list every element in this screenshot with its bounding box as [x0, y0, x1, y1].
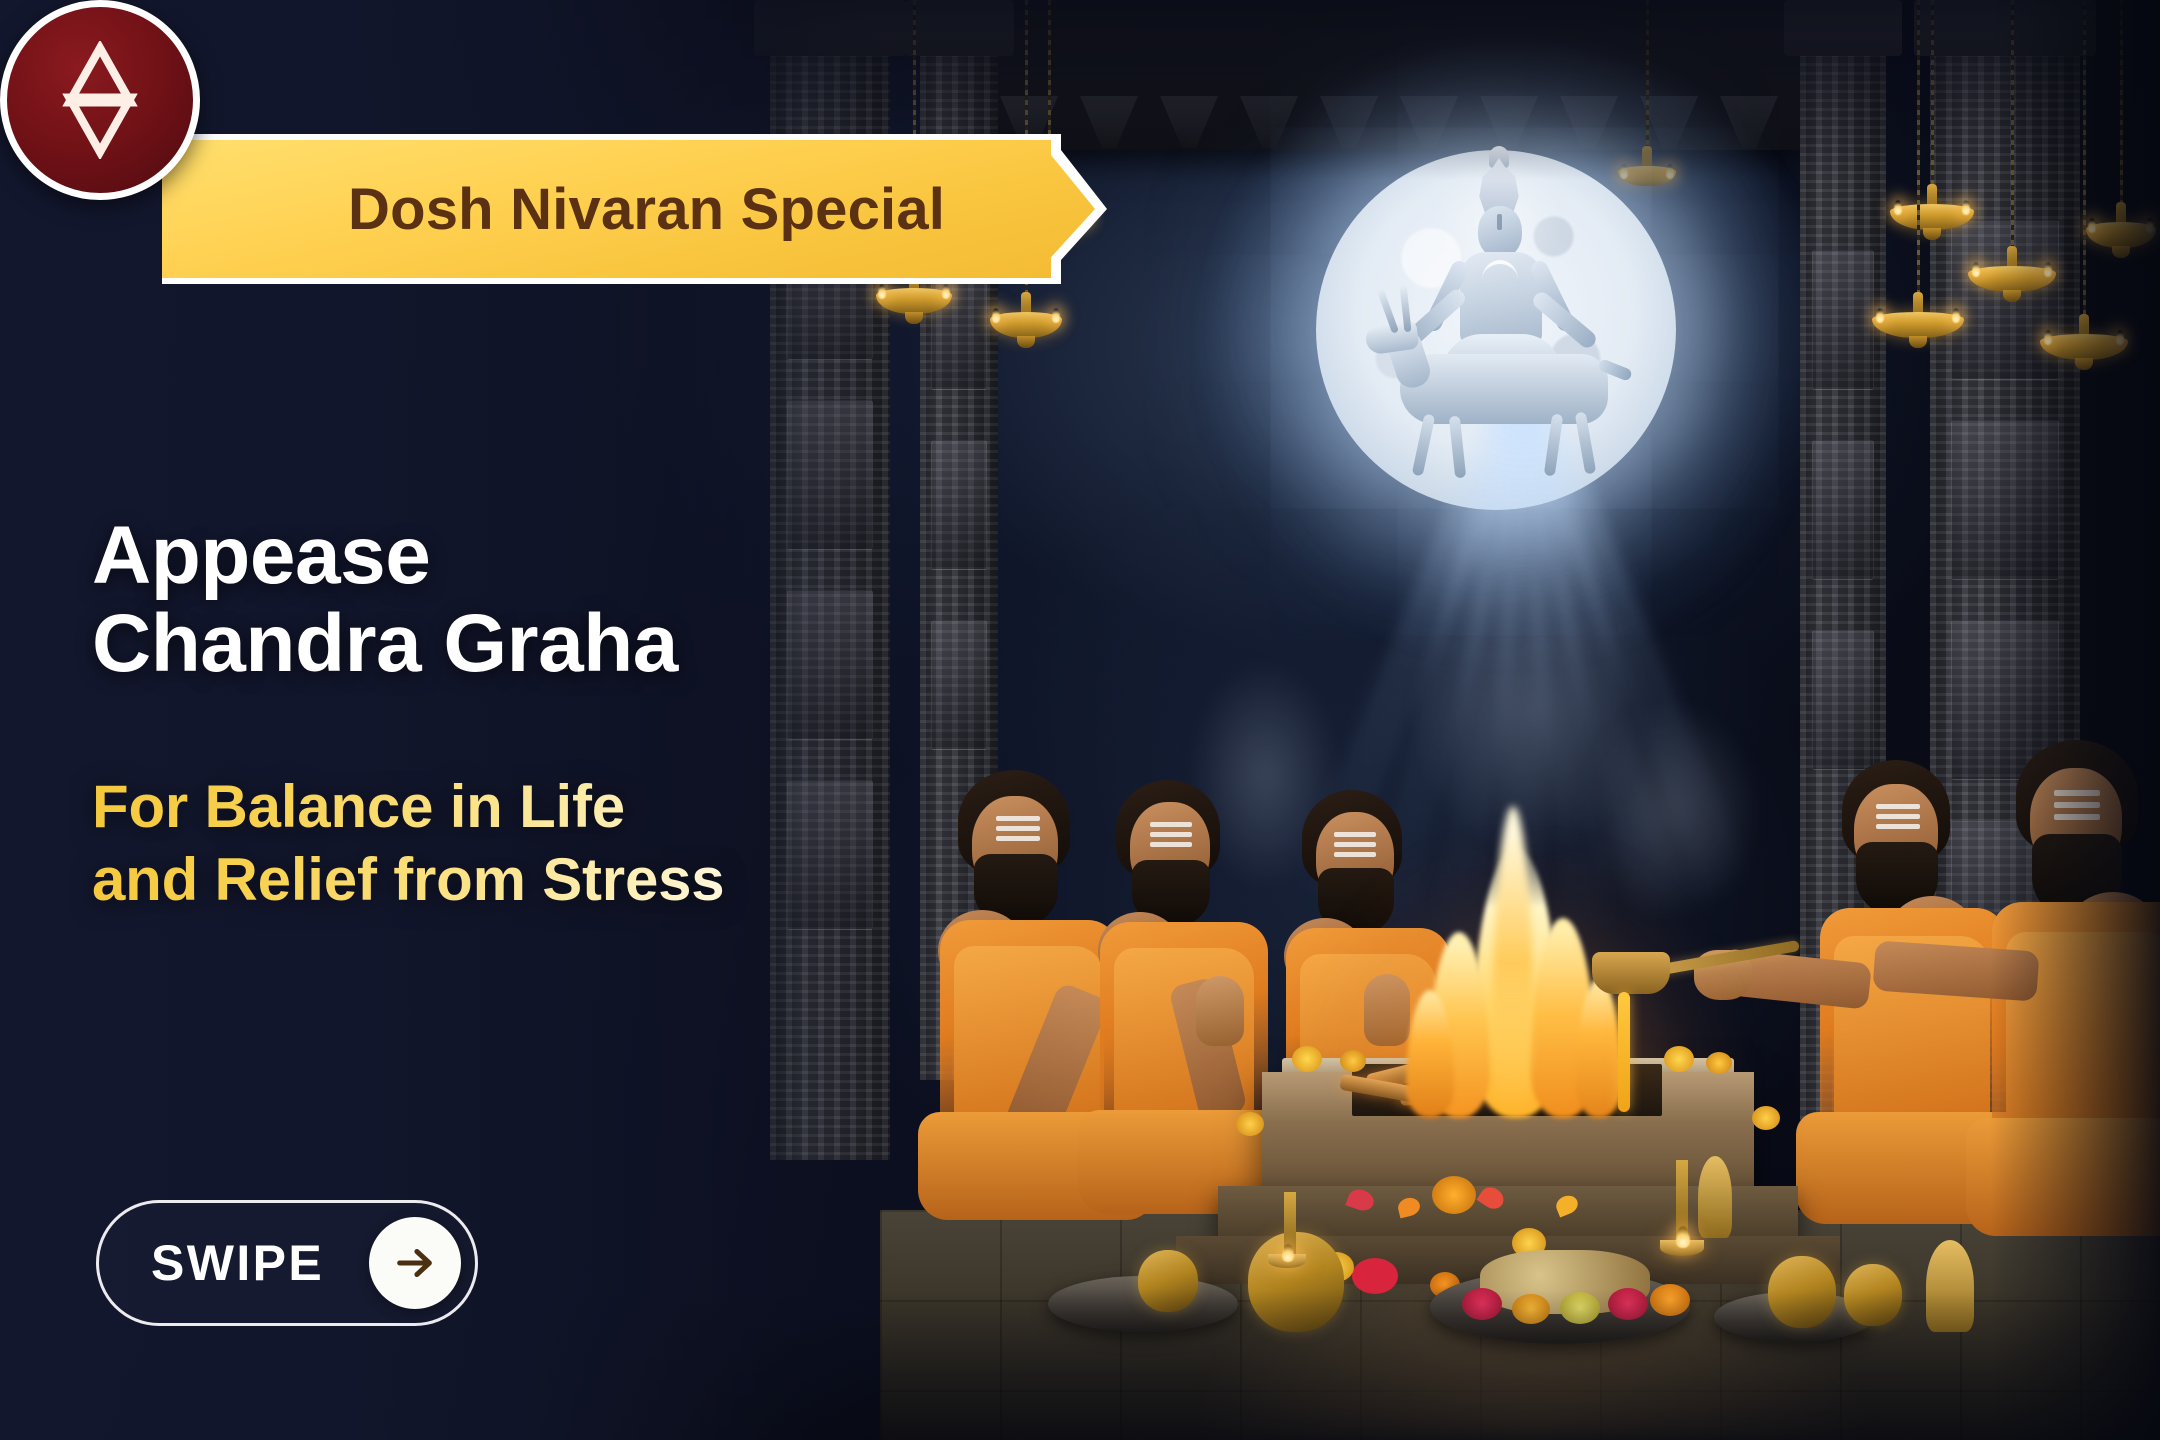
- marigold-flower: [1664, 1046, 1694, 1072]
- headline-line-2: Chandra Graha: [92, 600, 678, 688]
- page-subtitle: For Balance in Life and Relief from Stre…: [92, 770, 724, 916]
- arrow-right-icon: [392, 1240, 438, 1286]
- swipe-arrow-circle[interactable]: [369, 1217, 461, 1309]
- marigold-flower: [1340, 1050, 1366, 1072]
- chandra-graha-deity: [1356, 148, 1646, 478]
- badge-ribbon: Dosh Nivaran Special: [162, 140, 1095, 278]
- sacred-fire: [1410, 838, 1620, 1118]
- marigold-flower: [1706, 1052, 1732, 1074]
- marigold-flower: [1752, 1106, 1780, 1130]
- page-title: Appease Chandra Graha: [92, 512, 678, 687]
- ghee-ladle: [1592, 952, 1670, 994]
- right-vignette: [1990, 0, 2160, 1440]
- star-of-david-icon: [41, 41, 159, 159]
- ghee-stream: [1618, 992, 1630, 1112]
- dosh-nivaran-medallion: [0, 0, 200, 200]
- headline-line-1: Appease: [92, 510, 430, 601]
- ritual-bell: [1698, 1156, 1732, 1238]
- marigold-flower: [1432, 1176, 1476, 1214]
- subhead-line-1: For Balance in Life: [92, 773, 625, 840]
- subhead-line-2: and Relief from Stress: [92, 843, 724, 916]
- swipe-button[interactable]: SWIPE: [96, 1200, 478, 1326]
- swipe-button-label: SWIPE: [151, 1234, 324, 1292]
- badge-label: Dosh Nivaran Special: [348, 176, 945, 243]
- flower-petal: [1352, 1258, 1398, 1294]
- promo-card: Dosh Nivaran Special Appease Chandra Gra…: [0, 0, 2160, 1440]
